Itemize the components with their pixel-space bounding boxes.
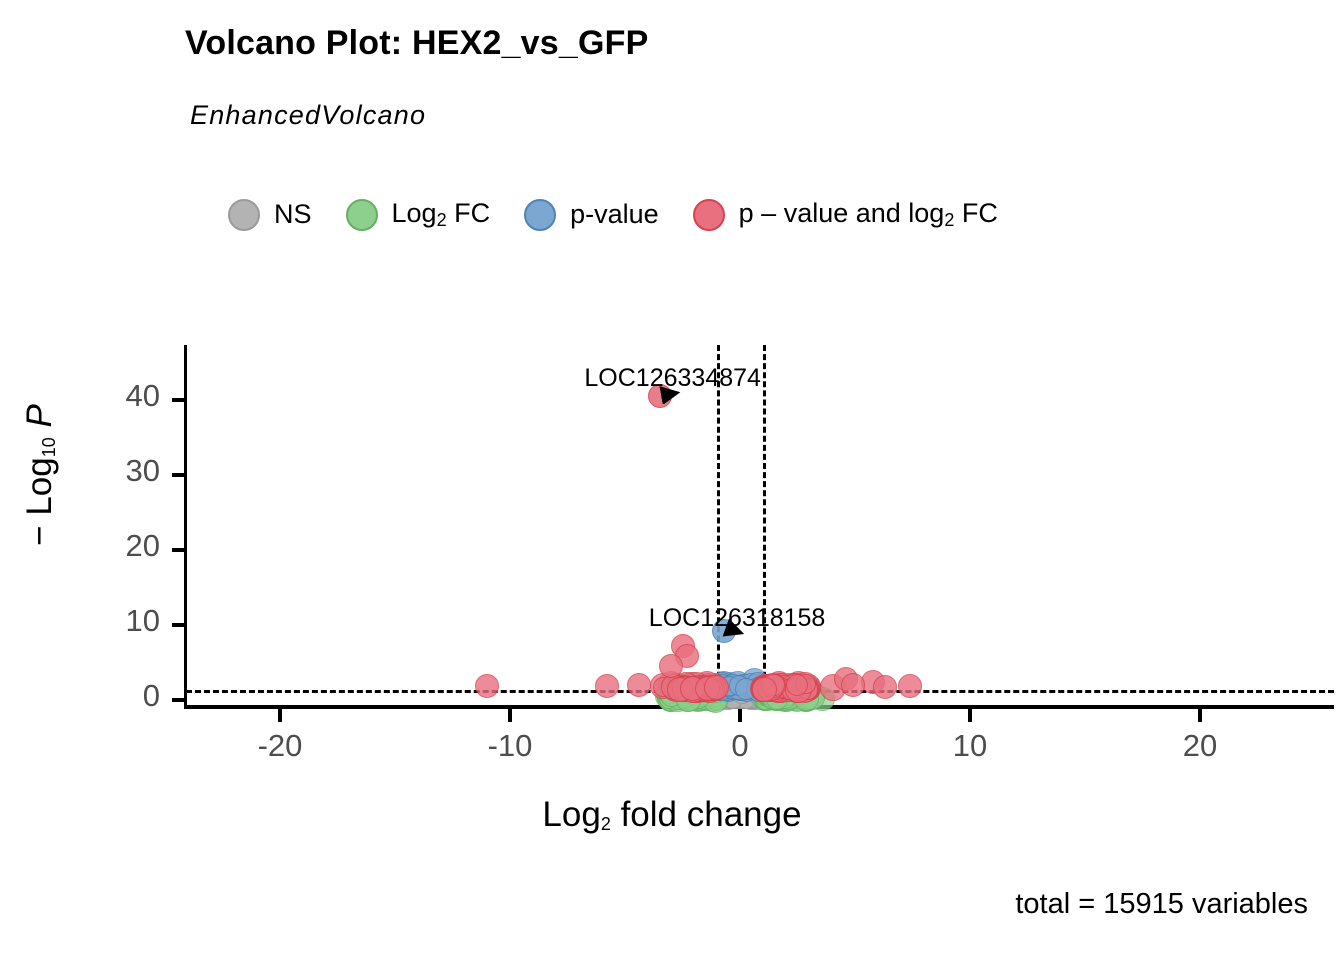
total-variables-caption: total = 15915 variables <box>1015 888 1308 921</box>
y-tick-0 <box>172 698 185 702</box>
y-tick-40 <box>172 398 185 402</box>
y-tick-label-10: 10 <box>60 603 160 639</box>
x-tick-label--10: -10 <box>450 728 570 764</box>
x-tick-label-0: 0 <box>680 728 800 764</box>
x-tick-label-20: 20 <box>1140 728 1260 764</box>
annotation-arrow-1 <box>720 619 750 643</box>
y-tick-10 <box>172 623 185 627</box>
legend-label-1: Log2 FC <box>392 198 491 231</box>
x-tick-20 <box>1198 709 1202 722</box>
annotation-arrow-0 <box>656 383 686 405</box>
y-tick-20 <box>172 548 185 552</box>
page-title: Volcano Plot: HEX2_vs_GFP <box>185 24 649 63</box>
scatter-point <box>752 677 777 702</box>
legend-item-2[interactable]: p-value <box>524 199 693 231</box>
log2fc-threshold-line-pos <box>763 345 766 705</box>
x-tick-label--20: -20 <box>220 728 340 764</box>
scatter-point <box>873 675 897 699</box>
legend-label-2: p-value <box>570 199 659 230</box>
scatter-point <box>841 673 865 697</box>
y-tick-30 <box>172 473 185 477</box>
legend-item-1[interactable]: Log2 FC <box>346 198 525 231</box>
volcano-plot-figure: Volcano Plot: HEX2_vs_GFP EnhancedVolcan… <box>0 0 1344 960</box>
scatter-point <box>898 674 922 698</box>
legend-item-0[interactable]: NS <box>228 199 346 231</box>
x-tick--10 <box>508 709 512 722</box>
y-tick-label-40: 40 <box>60 378 160 414</box>
y-tick-label-0: 0 <box>60 678 160 714</box>
x-tick-label-10: 10 <box>910 728 1030 764</box>
x-tick--20 <box>278 709 282 722</box>
circle-marker-ns <box>228 199 260 231</box>
page-subtitle: EnhancedVolcano <box>190 100 426 131</box>
legend-item-3[interactable]: p – value and log2 FC <box>693 198 1032 231</box>
scatter-point <box>704 675 729 700</box>
legend-label-3: p – value and log2 FC <box>739 198 998 231</box>
chart-legend: NSLog2 FCp-valuep – value and log2 FC <box>228 198 1032 231</box>
x-tick-0 <box>738 709 742 722</box>
y-tick-label-20: 20 <box>60 528 160 564</box>
y-tick-label-30: 30 <box>60 453 160 489</box>
circle-marker-logfc <box>346 199 378 231</box>
x-axis-title: Log2 fold change <box>0 795 1344 835</box>
scatter-point <box>627 673 651 697</box>
log2fc-threshold-line-neg <box>717 345 720 705</box>
scatter-point <box>475 674 499 698</box>
scatter-point <box>595 674 619 698</box>
circle-marker-both <box>693 199 725 231</box>
y-axis-title: − Log10 P <box>20 285 60 665</box>
legend-label-0: NS <box>274 199 312 230</box>
circle-marker-pvalue <box>524 199 556 231</box>
scatter-point <box>659 654 683 678</box>
x-tick-10 <box>968 709 972 722</box>
